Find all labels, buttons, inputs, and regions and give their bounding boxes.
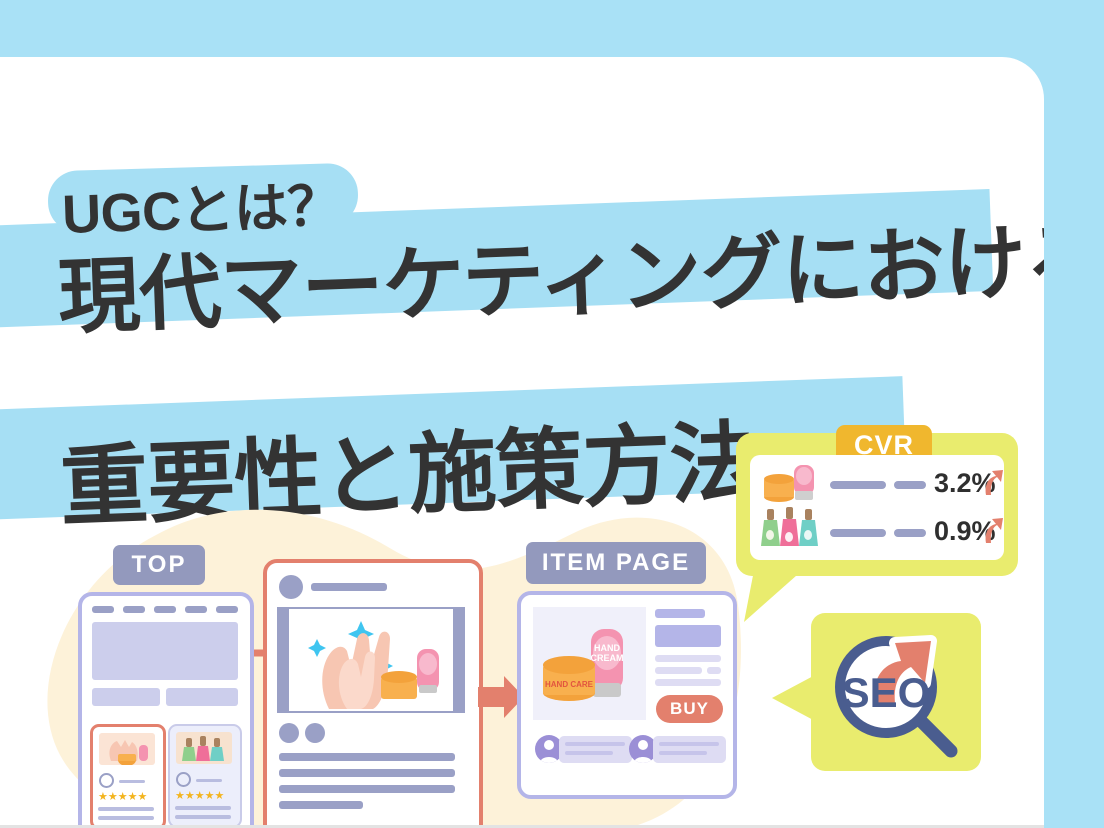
post-action-icon[interactable] [279,723,299,743]
reviewer-name [196,779,222,782]
nav-item [92,606,114,613]
content-tile [166,688,238,706]
cvr-row-bar [894,481,926,489]
post-image [289,609,453,711]
comment-line [659,742,719,746]
hero-banner [92,622,238,680]
nav-item [185,606,207,613]
reviewer-name [119,780,145,783]
nav-item [123,606,145,613]
cvr-table: 3.2% 0 [750,455,1004,560]
cvr-row-bar [830,529,886,537]
review-thumb [99,733,155,765]
product-icon-nail-polish-set [760,507,826,553]
review-text-line [175,806,231,810]
review-card[interactable]: ★★★★★ [168,724,242,828]
trend-up-arrow-icon [982,513,1004,545]
post-text-line [279,753,455,761]
rating-stars: ★★★★★ [175,791,224,802]
comment-line [565,751,613,755]
mock-ugc-post [263,559,483,828]
review-text-line [175,815,231,819]
cvr-row-bar [894,529,926,537]
comment-bubble [559,736,632,763]
review-card-highlighted[interactable]: ★★★★★ [90,724,166,828]
label-item-page: ITEM PAGE [526,542,706,584]
label-top-page: TOP [113,545,205,585]
post-text-line [279,785,455,793]
buy-button[interactable]: BUY [656,695,723,723]
review-text-line [98,807,154,811]
reviewer-avatar-icon [99,773,114,788]
post-author-name [311,583,387,591]
svg-text:CREAM: CREAM [591,653,624,663]
nav-item [216,606,238,613]
reviewer-avatar-icon [176,772,191,787]
comment-line [659,751,707,755]
svg-text:HAND CARE: HAND CARE [545,680,594,689]
product-title [655,609,705,618]
mock-top-page: ★★★★★ [78,592,254,828]
product-image: HAND CREAM HAND CARE [533,607,646,720]
product-spec-line [707,667,721,674]
product-spec-line [655,667,702,674]
magnifier-with-up-arrow-icon: SEO [823,621,969,763]
comment-line [565,742,625,746]
rating-stars: ★★★★★ [98,792,147,803]
review-thumb [176,732,232,764]
label-top-page-text: TOP [132,551,187,579]
buy-button-label: BUY [670,699,709,719]
seo-label: SEO [842,669,931,716]
label-item-page-text: ITEM PAGE [542,549,690,577]
post-text-line [279,769,455,777]
content-tile [92,688,160,706]
svg-text:HAND: HAND [594,643,620,653]
mock-item-page: HAND CREAM HAND CARE BUY [517,591,737,799]
post-text-line [279,801,363,809]
product-spec-line [655,655,721,662]
review-text-line [98,816,154,820]
comment-bubble [653,736,726,763]
cvr-callout: CVR 3.2% [736,433,1018,576]
cvr-row-bar [830,481,886,489]
nav-item [154,606,176,613]
post-action-icon[interactable] [305,723,325,743]
product-icon-hand-care-set [760,461,826,505]
post-author-avatar [279,575,303,599]
trend-up-arrow-icon [982,465,1004,497]
product-price-block [655,625,721,647]
seo-callout: SEO SEO [811,613,981,771]
product-spec-line [655,679,721,686]
poster-canvas: UGCとは？ 現代マーケティングにおける 重要性と施策方法 TOP [0,0,1104,828]
